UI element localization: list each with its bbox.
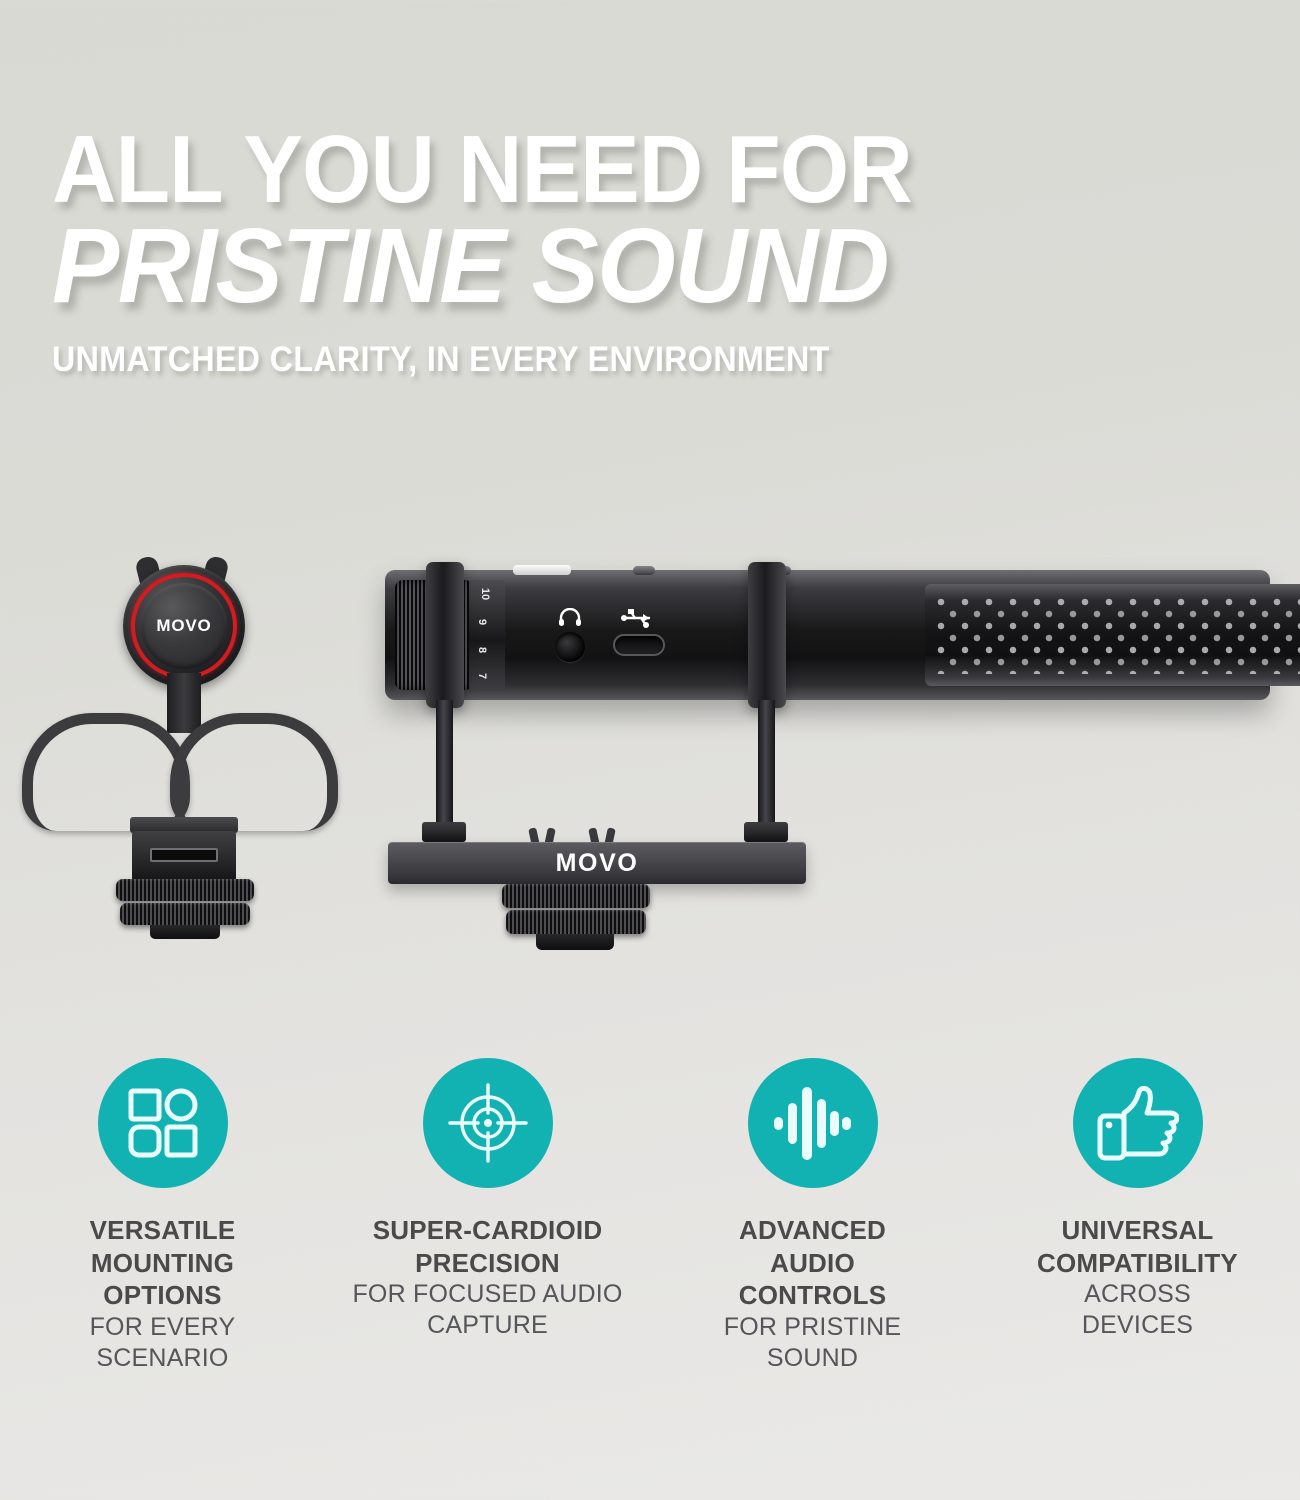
mount-bar-knurled-ring-lower [506,910,646,934]
mount-arm-foot-rear [744,822,788,842]
mount-bar-base-foot [536,934,614,950]
interference-tube [925,584,1300,686]
gain-scale-mark-10: 10 [479,588,491,600]
headline-line-2: PRISTINE SOUND [52,218,1238,316]
microphone-body: 10 9 8 7 [385,570,1270,700]
control-button-1 [633,566,655,575]
feature-icon-badge [98,1058,228,1188]
shock-mount-suspension [20,713,340,833]
usb-icon [621,608,657,628]
mount-arm-foot-front [422,822,466,842]
feature-title: UNIVERSAL COMPATIBILITY [1037,1214,1238,1279]
mount-arm-front [436,700,453,828]
audio-waveform-icon [772,1083,854,1163]
feature-icon-badge [423,1058,553,1188]
cold-shoe-slot [150,848,218,862]
crosshair-target-icon [448,1083,528,1163]
headline-line-1: ALL YOU NEED FOR [52,128,1213,212]
gain-scale: 10 9 8 7 [469,580,505,690]
feature-description: FOR FOCUSED AUDIO CAPTURE [352,1279,622,1342]
feature-title: ADVANCED AUDIO CONTROLS [739,1214,886,1312]
mount-arm-rear [758,700,775,828]
headphone-jack-port [555,632,585,662]
shock-mount-logo-cap: MOVO [141,583,227,669]
shock-mount-knurled-ring-lower [120,903,250,925]
feature-advanced-audio-controls: ADVANCED AUDIO CONTROLS FOR PRISTINE SOU… [650,1058,975,1374]
gain-scale-mark-9: 9 [476,619,488,625]
hero-header: ALL YOU NEED FOR PRISTINE SOUND UNMATCHE… [0,0,1300,380]
shock-mount-cold-shoe [132,831,236,881]
feature-title: VERSATILE MOUNTING OPTIONS [90,1214,236,1312]
suspension-wing-left [22,713,190,831]
usb-c-port [613,634,665,656]
feature-description: ACROSS DEVICES [1082,1279,1193,1342]
shock-mount: MOVO [20,565,340,985]
hero-subtitle: UNMATCHED CLARITY, IN EVERY ENVIRONMENT [52,340,1200,380]
shock-mount-disc: MOVO [123,565,245,687]
shock-mount-base-foot [150,925,220,939]
gain-scale-mark-7: 7 [476,673,488,679]
gain-scale-mark-8: 8 [476,647,488,653]
thumbs-up-icon [1097,1084,1179,1162]
shotgun-microphone: 10 9 8 7 [330,570,1270,990]
feature-versatile-mounting: VERSATILE MOUNTING OPTIONS FOR EVERY SCE… [0,1058,325,1374]
feature-description: FOR EVERY SCENARIO [90,1312,236,1375]
shock-mount-brand-label: MOVO [156,616,211,636]
feature-universal-compatibility: UNIVERSAL COMPATIBILITY ACROSS DEVICES [975,1058,1300,1374]
mode-switch [513,565,571,575]
shock-mount-knurled-ring-upper [116,879,254,901]
tube-perforation-grid [935,596,1300,674]
suspension-wing-right [170,713,338,831]
product-stage: MOVO 10 9 8 7 [0,470,1300,1030]
mount-bar: MOVO [388,842,806,884]
mount-bar-brand-label: MOVO [556,849,639,878]
grid-shapes-icon [126,1086,200,1160]
feature-icon-badge [748,1058,878,1188]
feature-description: FOR PRISTINE SOUND [724,1312,901,1375]
headphone-icon [558,608,582,626]
feature-row: VERSATILE MOUNTING OPTIONS FOR EVERY SCE… [0,1058,1300,1374]
mount-collar-rear [748,562,786,708]
feature-title: SUPER-CARDIOID PRECISION [373,1214,603,1279]
mount-collar-front [426,562,464,708]
feature-icon-badge [1073,1058,1203,1188]
feature-super-cardioid-precision: SUPER-CARDIOID PRECISION FOR FOCUSED AUD… [325,1058,650,1374]
mount-bar-knurled-ring-upper [502,884,650,908]
